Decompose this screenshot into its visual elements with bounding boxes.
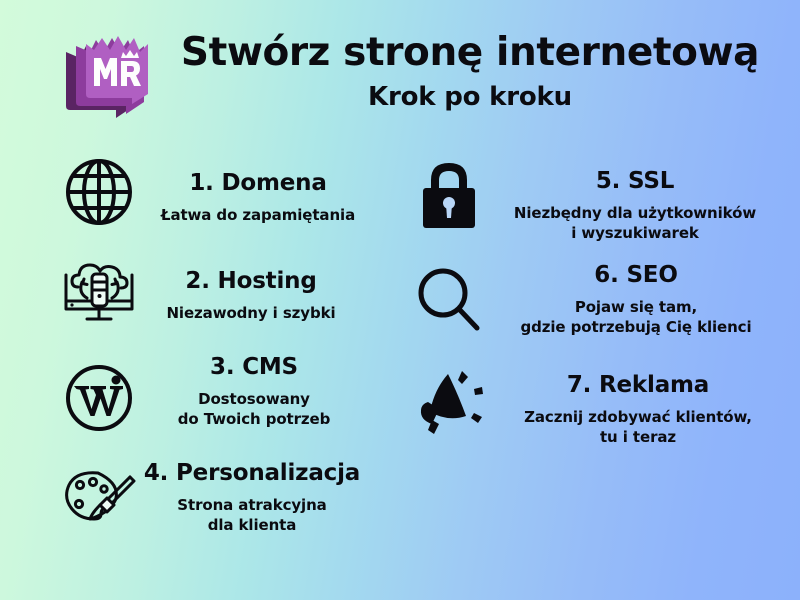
step-description: Niezawodny i szybki bbox=[120, 304, 382, 324]
megaphone-icon bbox=[404, 364, 490, 444]
step-description: Strona atrakcyjna dla klienta bbox=[112, 496, 392, 536]
step-description: Dostosowany do Twoich potrzeb bbox=[128, 390, 380, 430]
step-description: Niezbędny dla użytkowników i wyszukiware… bbox=[490, 204, 780, 244]
infographic-poster: Stwórz stronę internetową Krok po kroku … bbox=[0, 0, 800, 600]
step-heading: 3. CMS bbox=[128, 354, 380, 380]
step-text-ssl: 5. SSL Niezbędny dla użytkowników i wysz… bbox=[490, 168, 780, 244]
step-description: Pojaw się tam, gdzie potrzebują Cię klie… bbox=[488, 298, 784, 338]
step-text-reklama: 7. Reklama Zacznij zdobywać klientów, tu… bbox=[490, 372, 786, 448]
page-title: Stwórz stronę internetową bbox=[170, 32, 770, 74]
mr-logo bbox=[60, 30, 156, 122]
step-heading: 1. Domena bbox=[128, 170, 388, 196]
step-heading: 5. SSL bbox=[490, 168, 780, 194]
step-heading: 6. SEO bbox=[488, 262, 784, 288]
step-heading: 2. Hosting bbox=[120, 268, 382, 294]
step-heading: 7. Reklama bbox=[490, 372, 786, 398]
step-text-seo: 6. SEO Pojaw się tam, gdzie potrzebują C… bbox=[488, 262, 784, 338]
step-description: Łatwa do zapamiętania bbox=[128, 206, 388, 226]
poster-header: Stwórz stronę internetową Krok po kroku bbox=[0, 16, 800, 126]
step-text-hosting: 2. Hosting Niezawodny i szybki bbox=[120, 268, 382, 324]
page-subtitle: Krok po kroku bbox=[170, 82, 770, 112]
step-text-domena: 1. Domena Łatwa do zapamiętania bbox=[128, 170, 388, 226]
step-text-personalizacja: 4. Personalizacja Strona atrakcyjna dla … bbox=[112, 460, 392, 536]
magnifier-icon bbox=[406, 260, 492, 340]
padlock-icon bbox=[406, 154, 492, 234]
step-heading: 4. Personalizacja bbox=[112, 460, 392, 486]
step-text-cms: 3. CMS Dostosowany do Twoich potrzeb bbox=[128, 354, 380, 430]
step-description: Zacznij zdobywać klientów, tu i teraz bbox=[490, 408, 786, 448]
title-block: Stwórz stronę internetową Krok po kroku bbox=[170, 32, 770, 112]
